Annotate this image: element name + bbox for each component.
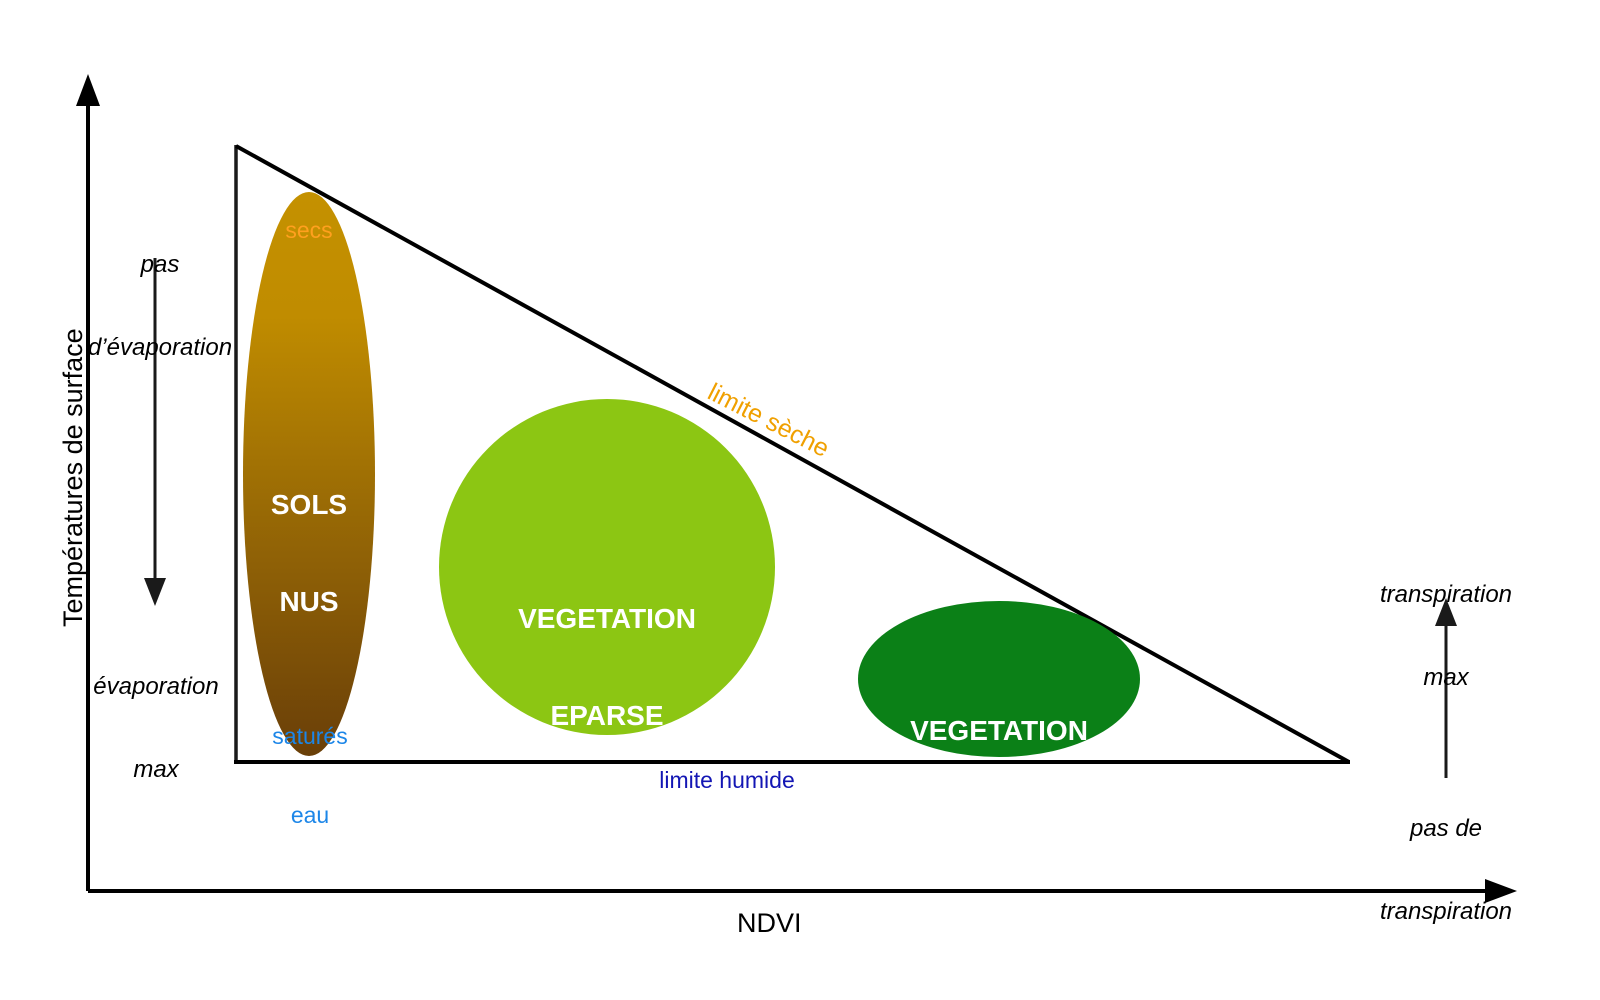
transpiration-max-line1: transpiration [1342, 581, 1550, 609]
evaporation-max-line2: max [80, 756, 232, 784]
evaporation-none-line1: pas [85, 251, 235, 279]
ndvi-temperature-triangle [234, 145, 1350, 763]
soil-saturated-tag: saturés eau [259, 670, 361, 882]
diagram-canvas: Températures de surface NDVI pas d’évapo… [0, 0, 1600, 1000]
blob-label-sols-nus: SOLS NUS [229, 425, 389, 683]
transpiration-none-line2: transpiration [1342, 898, 1550, 926]
blob-label-vegetation-eparse: VEGETATION EPARSE [457, 539, 757, 797]
x-axis-label: NDVI [737, 908, 802, 939]
blob-label-vegetation-dense-line1: VEGETATION [849, 715, 1149, 747]
soil-saturated-tag-line2: eau [259, 802, 361, 828]
x-axis [88, 879, 1517, 903]
transpiration-max-label: transpiration max [1342, 526, 1550, 747]
evaporation-max-line1: évaporation [80, 673, 232, 701]
transpiration-none-label: pas de transpiration [1342, 760, 1550, 981]
blob-label-vegetation-eparse-line2: EPARSE [457, 700, 757, 732]
soil-saturated-tag-line1: saturés [259, 723, 361, 749]
evaporation-none-label: pas d’évaporation [85, 196, 235, 417]
evaporation-none-line2: d’évaporation [85, 334, 235, 362]
transpiration-none-line1: pas de [1342, 815, 1550, 843]
blob-label-vegetation-dense: VEGETATION DENSE [849, 651, 1149, 909]
soil-dry-tag: secs [259, 217, 359, 243]
evaporation-max-label: évaporation max [80, 618, 232, 839]
transpiration-max-line2: max [1342, 664, 1550, 692]
blob-label-sols-nus-line2: NUS [229, 586, 389, 618]
blob-label-vegetation-eparse-line1: VEGETATION [457, 603, 757, 635]
blob-label-sols-nus-line1: SOLS [229, 489, 389, 521]
blob-label-vegetation-dense-line2: DENSE [849, 812, 1149, 844]
